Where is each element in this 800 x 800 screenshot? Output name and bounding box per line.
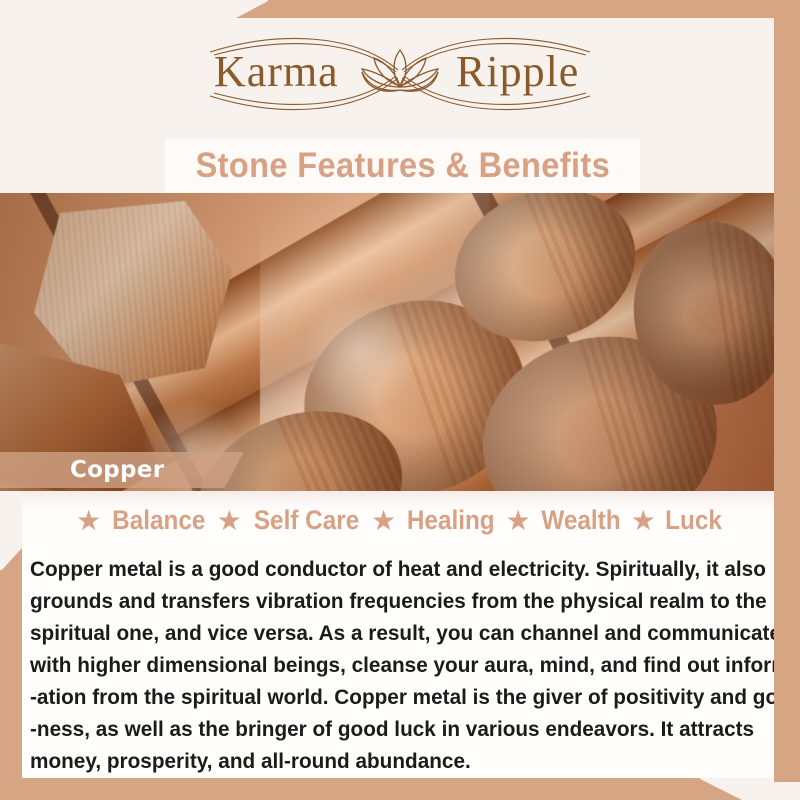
- page-title: Stone Features & Benefits: [195, 146, 609, 186]
- description-line: -ation from the spiritual world. Copper …: [30, 681, 746, 713]
- benefits-row: ★Balance★Self Care★Healing★Wealth★Luck: [22, 505, 775, 536]
- stone-name-text: Copper: [0, 457, 164, 483]
- frame-left-bevel: [0, 548, 22, 572]
- description-line: with higher dimensional beings, cleanse …: [30, 649, 746, 681]
- benefit-label-luck: Luck: [665, 505, 722, 536]
- description-line: money, prosperity, and all-round abundan…: [30, 745, 746, 777]
- product-infographic-page: Karma Ripple Stone Features & Benefits C…: [0, 0, 800, 800]
- lotus-flower-icon: [362, 50, 438, 91]
- brand-logo-svg: Karma Ripple: [140, 24, 660, 124]
- benefit-label-balance: Balance: [112, 505, 205, 536]
- copper-rods-photo: [0, 193, 775, 491]
- brand-word-left: Karma: [214, 47, 339, 96]
- star-icon: ★: [217, 507, 242, 535]
- description-line: spiritual one, and vice versa. As a resu…: [30, 617, 746, 649]
- star-icon: ★: [76, 507, 101, 535]
- description-line: -ness, as well as the bringer of good lu…: [30, 713, 746, 745]
- benefit-label-wealth: Wealth: [541, 505, 620, 536]
- content-panel: ★Balance★Self Care★Healing★Wealth★Luck C…: [22, 491, 775, 778]
- benefit-label-healing: Healing: [407, 505, 495, 536]
- description-text: Copper metal is a good conductor of heat…: [30, 553, 772, 777]
- description-line: grounds and transfers vibration frequenc…: [30, 585, 746, 617]
- frame-bottom-bevel: [698, 778, 742, 800]
- benefit-label-self-care: Self Care: [254, 505, 359, 536]
- frame-left-bar: [0, 570, 22, 800]
- description-line: Copper metal is a good conductor of heat…: [30, 553, 746, 585]
- star-icon: ★: [506, 507, 531, 535]
- hero-image: [0, 193, 775, 491]
- frame-bottom-bar: [0, 778, 700, 800]
- frame-top-bar: [268, 0, 800, 18]
- frame-top-bevel: [236, 0, 270, 18]
- brand-logo: Karma Ripple: [0, 24, 800, 124]
- stone-name-label: Copper: [0, 452, 244, 488]
- frame-right-bar: [774, 0, 800, 782]
- star-icon: ★: [371, 507, 396, 535]
- star-icon: ★: [631, 507, 656, 535]
- title-banner: Stone Features & Benefits: [165, 138, 640, 193]
- brand-word-right: Ripple: [456, 47, 579, 96]
